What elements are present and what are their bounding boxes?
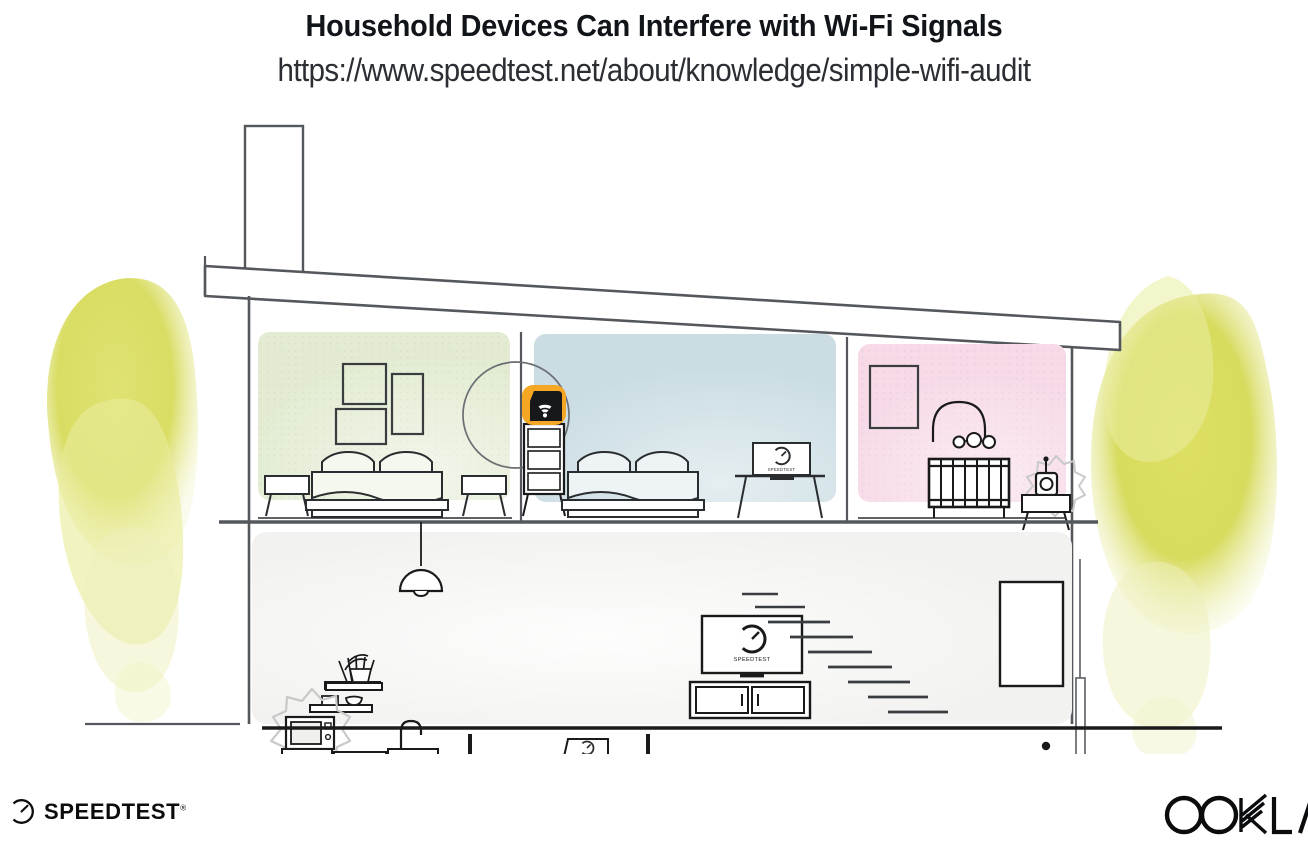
exterior-post (1076, 559, 1085, 754)
front-door[interactable] (1000, 582, 1063, 750)
trademark-symbol: ® (180, 803, 187, 812)
kitchen-cabinets (282, 749, 438, 754)
crib (929, 459, 1009, 518)
media-console (690, 682, 810, 718)
chair-right (618, 734, 648, 754)
infographic-page: Household Devices Can Interfere with Wi-… (0, 0, 1308, 861)
tv-screen-label: SPEEDTEST (734, 657, 771, 663)
source-url: https://www.speedtest.net/about/knowledg… (52, 52, 1255, 89)
house-illustration: SPEEDTEST (0, 104, 1308, 754)
laptop-speedtest[interactable]: SPEEDTEST (558, 739, 614, 754)
speedtest-wordmark: SPEEDTEST® (44, 799, 187, 825)
house-cutaway-svg: SPEEDTEST (0, 104, 1308, 754)
side-table-nursery (1022, 495, 1070, 530)
kitchen-faucet (401, 721, 421, 749)
wifi-router[interactable] (522, 385, 566, 425)
monitor-speedtest[interactable]: SPEEDTEST (753, 443, 810, 480)
chair-left (470, 734, 500, 754)
tree-left (47, 278, 198, 722)
chimney (245, 126, 303, 274)
page-title: Household Devices Can Interfere with Wi-… (46, 8, 1262, 44)
ookla-wordmark-svg (1162, 792, 1308, 838)
dresser (523, 424, 565, 516)
speedtest-logo: SPEEDTEST® (8, 798, 187, 825)
brand-text: SPEEDTEST (44, 799, 180, 824)
microwave[interactable] (286, 717, 334, 749)
room-ground-floor (252, 532, 1072, 724)
speedtest-gauge-icon (8, 798, 35, 825)
ookla-logo (1162, 792, 1308, 843)
shelf-top-with-plant (326, 683, 382, 690)
tv-speedtest[interactable]: SPEEDTEST (702, 616, 802, 677)
monitor-screen-label: SPEEDTEST (768, 467, 796, 472)
